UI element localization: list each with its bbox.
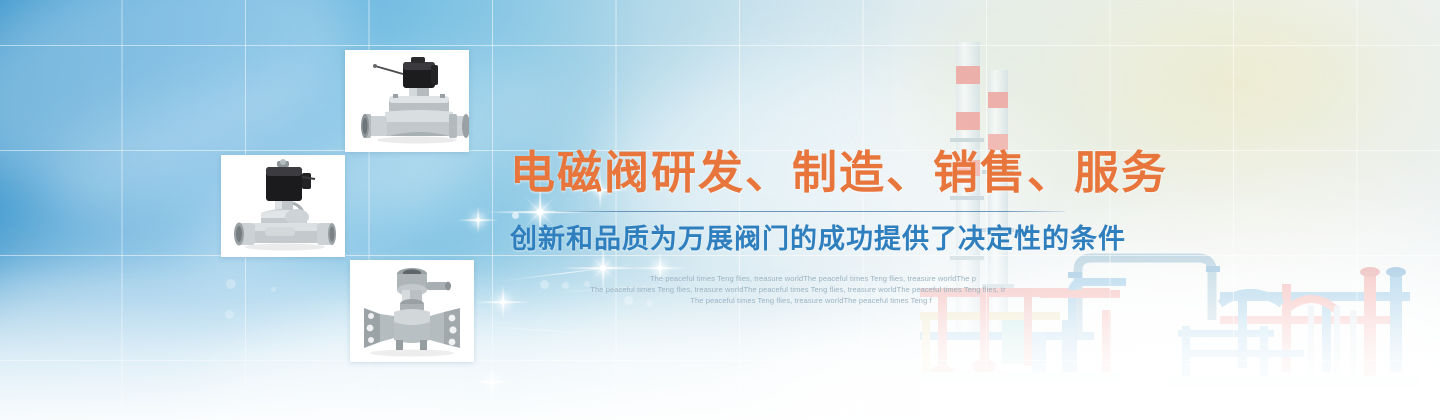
blurb-line-3: The peaceful times Teng flies, treasure … xyxy=(512,295,1110,306)
page-title: 电磁阀研发、制造、销售、服务 xyxy=(510,148,1110,198)
divider xyxy=(555,211,1065,212)
blurb-line-2: The peaceful times Teng flies, treasure … xyxy=(486,284,1110,295)
blurb-line-1: The peaceful times Teng flies, treasure … xyxy=(516,273,1110,284)
product-tile-1[interactable] xyxy=(345,50,469,152)
solenoid-valve-inline-threaded-image xyxy=(345,50,469,152)
promo-banner: 电磁阀研发、制造、销售、服务 创新和品质为万展阀门的成功提供了决定性的条件 Th… xyxy=(0,0,1440,420)
product-tile-2[interactable] xyxy=(221,155,345,257)
blurb-text: The peaceful times Teng flies, treasure … xyxy=(510,273,1110,306)
subtitle: 创新和品质为万展阀门的成功提供了决定性的条件 xyxy=(510,224,1110,256)
product-tile-3[interactable] xyxy=(350,260,474,362)
banner-copy: 电磁阀研发、制造、销售、服务 创新和品质为万展阀门的成功提供了决定性的条件 Th… xyxy=(510,148,1110,306)
solenoid-valve-angle-threaded-image xyxy=(221,155,345,257)
solenoid-valve-flanged-image xyxy=(350,260,474,362)
